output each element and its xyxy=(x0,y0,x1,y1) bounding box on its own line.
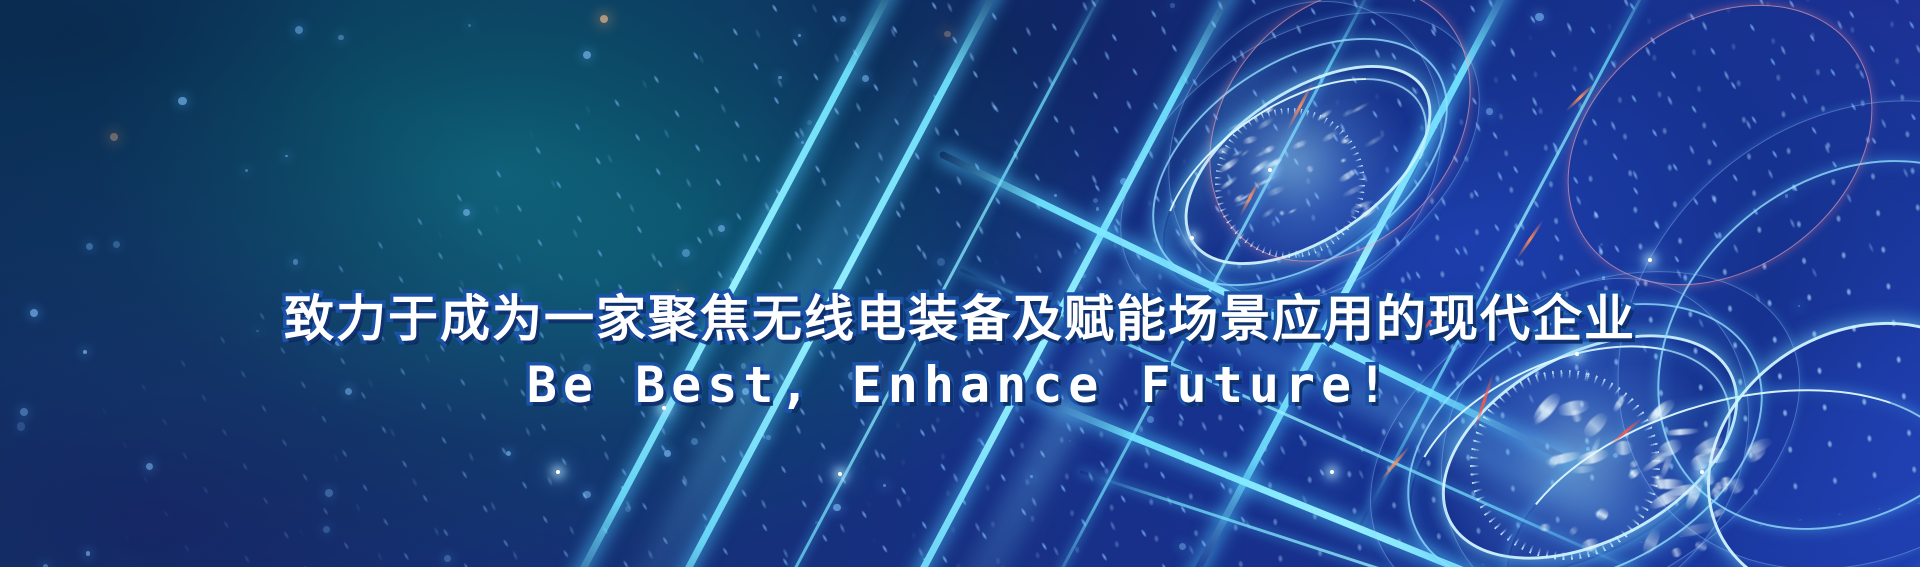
sparkle xyxy=(838,472,842,476)
hero-banner: 致力于成为一家聚焦无线电装备及赋能场景应用的现代企业 Be Best, Enha… xyxy=(0,0,1920,567)
sparkle xyxy=(1330,470,1334,474)
sparkle xyxy=(1648,258,1652,262)
sparkle xyxy=(1575,352,1579,356)
sparkle xyxy=(556,470,560,474)
sparkle xyxy=(1700,470,1704,474)
orbital-rings-globe xyxy=(0,0,1920,567)
sparkle xyxy=(662,406,666,410)
sparkle xyxy=(1268,168,1272,172)
accent-streak xyxy=(1416,297,1446,343)
sparkle xyxy=(1190,236,1194,240)
sparkle xyxy=(1452,318,1456,322)
accent-streak xyxy=(1515,219,1544,260)
